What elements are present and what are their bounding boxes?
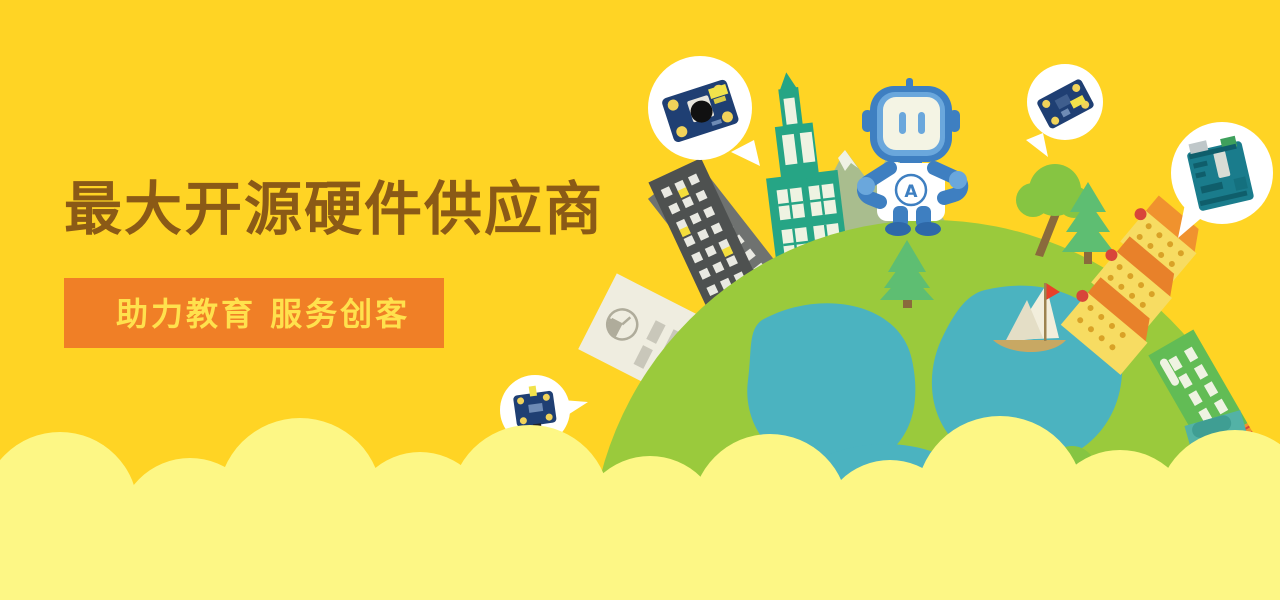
speech-bubble-arduino-board[interactable] xyxy=(1171,122,1273,238)
page-title: 最大开源硬件供应商 xyxy=(64,178,664,242)
speech-bubble-sensor-button[interactable] xyxy=(648,56,760,166)
subtitle-text: 助力教育 服务创客 xyxy=(116,295,410,333)
cloud-foreground xyxy=(0,400,1280,600)
speech-bubble-sensor-small[interactable] xyxy=(1026,64,1103,157)
promo-banner: A xyxy=(0,0,1280,600)
banner-text-block: 最大开源硬件供应商 助力教育 服务创客 xyxy=(64,178,664,348)
subtitle-badge: 助力教育 服务创客 xyxy=(64,278,444,348)
